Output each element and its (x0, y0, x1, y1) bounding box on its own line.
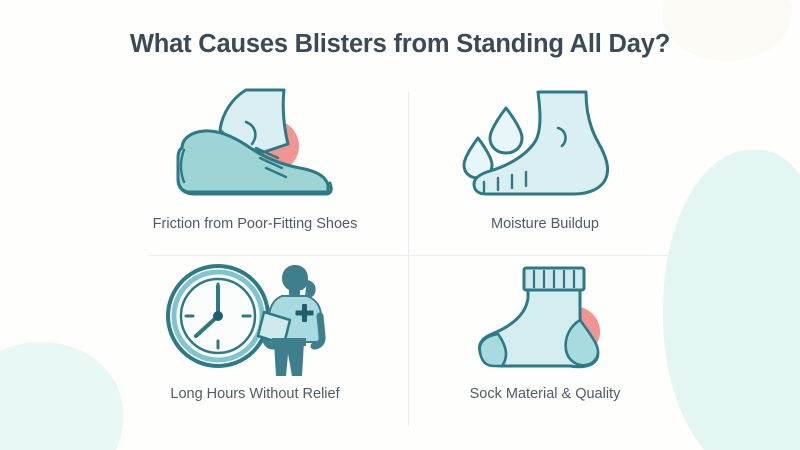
infographic-canvas: What Causes Blisters from Standing All D… (0, 0, 800, 450)
clock-and-standing-nurse-icon (110, 258, 400, 378)
cause-cell-sock-quality: Sock Material & Quality (400, 258, 690, 428)
cause-caption: Sock Material & Quality (470, 386, 621, 402)
cause-cell-long-hours: Long Hours Without Relief (110, 258, 400, 428)
wall-clock (168, 266, 268, 366)
sock-toe-patch (480, 334, 506, 366)
decorative-blob-bottom-left (0, 342, 123, 450)
shoe-with-blister-icon (110, 88, 400, 208)
causes-grid: Friction from Poor-Fitting Shoes (110, 88, 690, 428)
cause-cell-moisture: Moisture Buildup (400, 88, 690, 258)
water-droplet-large (490, 108, 522, 153)
cause-caption: Moisture Buildup (491, 216, 599, 232)
foot-with-water-droplets-icon (400, 88, 690, 208)
page-title: What Causes Blisters from Standing All D… (0, 30, 800, 59)
standing-nurse-figure (258, 265, 322, 376)
cause-caption: Friction from Poor-Fitting Shoes (153, 216, 358, 232)
cause-cell-friction: Friction from Poor-Fitting Shoes (110, 88, 400, 258)
cause-caption: Long Hours Without Relief (170, 386, 339, 402)
sock-with-blister-icon (400, 258, 690, 378)
